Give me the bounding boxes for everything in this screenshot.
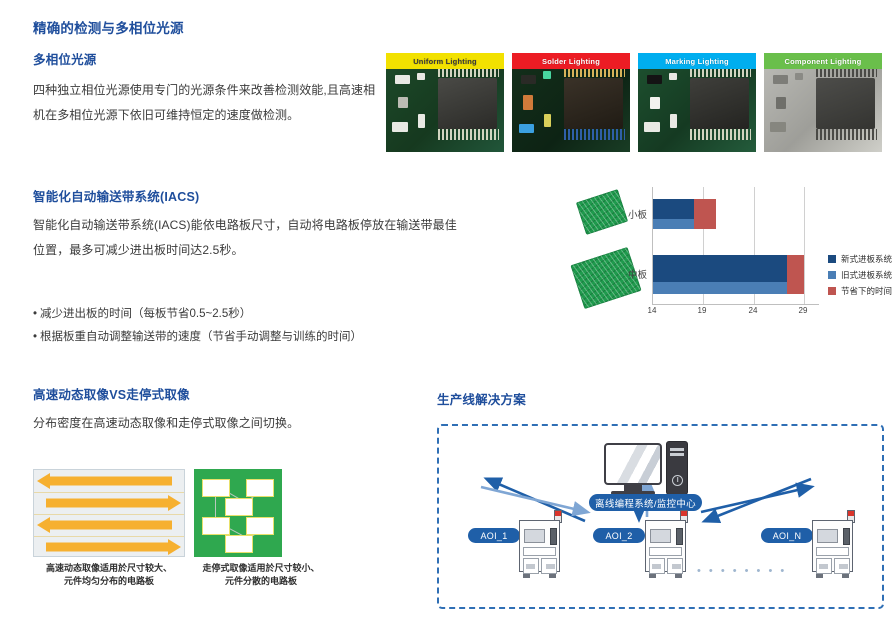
scan-arrow-right <box>46 543 168 552</box>
legend-label: 新式进板系统 <box>841 253 892 265</box>
gridline <box>804 187 805 304</box>
lighting-caption: Uniform Lighting <box>386 53 504 69</box>
section-heading-iacs: 智能化自动输送带系统(IACS) <box>33 186 199 205</box>
node-label-aoi-2: AOI_2 <box>593 528 645 543</box>
ellipsis-separator: • • • • • • • • <box>697 565 787 577</box>
chart-x-axis: 14 19 24 29 <box>652 306 818 318</box>
section-heading-line: 生产线解决方案 <box>437 389 526 408</box>
bar-time-saved <box>787 255 804 294</box>
scan-arrow-left <box>50 477 172 486</box>
fov-pad <box>225 498 253 516</box>
bullet-text: 减少进出板的时间（每板节省0.5~2.5秒） <box>40 308 251 320</box>
continuous-scan-graphic <box>33 469 185 557</box>
legend-label: 节省下的时间 <box>841 285 892 297</box>
bullet-text: 根据板重自动调整输送带的速度（节省手动调整与训练的时间） <box>40 331 362 343</box>
x-tick-label: 14 <box>648 306 657 315</box>
x-tick-label: 24 <box>749 306 758 315</box>
chart-category-label: 小板 <box>605 207 647 221</box>
bullet-dot: • <box>33 308 37 320</box>
caption-step-repeat: 走停式取像适用於尺寸较小、 元件分散的电路板 <box>186 562 336 588</box>
fov-pad <box>202 517 230 535</box>
bar-new-system <box>653 255 787 282</box>
arrow-head-right-icon <box>168 495 181 511</box>
connector-arrow <box>705 479 811 521</box>
page-title: 精确的检测与多相位光源 <box>33 17 184 37</box>
section-body-imaging: 分布密度在高速动态取像和走停式取像之间切换。 <box>33 411 299 436</box>
aoi-machine-2 <box>645 516 692 574</box>
node-label-aoi-n: AOI_N <box>761 528 813 543</box>
lighting-caption: Component Lighting <box>764 53 882 69</box>
legend-swatch <box>828 255 836 263</box>
aoi-machine-1 <box>519 516 566 574</box>
poster-page: 精确的检测与多相位光源 多相位光源 四种独立相位光源使用专门的光源条件来改善检测… <box>0 0 894 618</box>
chart-category-label: 中板 <box>605 267 647 281</box>
scan-arrow-left <box>50 521 172 530</box>
legend-swatch <box>828 287 836 295</box>
lighting-image-solder: Solder Lighting <box>512 53 630 152</box>
iacs-bullet-list: •减少进出板的时间（每板节省0.5~2.5秒） •根据板重自动调整输送带的速度（… <box>33 303 362 349</box>
caption-line: 元件分散的电路板 <box>186 575 336 588</box>
lighting-image-uniform: Uniform Lighting <box>386 53 504 152</box>
pc-tower-icon <box>666 441 688 495</box>
chart-plot-area: 小板 中板 <box>652 187 819 305</box>
section-body-iacs-line2: 位置，最多可减少进出板时间达2.5秒。 <box>33 238 244 263</box>
fov-pad <box>225 535 253 553</box>
section-body-lighting: 四种独立相位光源使用专门的光源条件来改善检测效能,且高速相机在多相位光源下依旧可… <box>33 78 378 128</box>
bullet-dot: • <box>33 331 37 343</box>
section-heading-lighting: 多相位光源 <box>33 49 97 68</box>
power-button-icon <box>672 475 683 486</box>
monitor-icon <box>604 443 662 485</box>
connector-arrow <box>481 487 587 512</box>
scan-arrow-right <box>46 499 168 508</box>
caption-line: 高速动态取像适用於尺寸较大、 <box>33 562 185 575</box>
fov-pad <box>202 479 230 497</box>
hub-label: 离线编程系统/监控中心 <box>589 494 702 511</box>
caption-line: 走停式取像适用於尺寸较小、 <box>186 562 336 575</box>
step-and-repeat-graphic <box>194 469 282 557</box>
bar-time-saved <box>694 199 716 229</box>
caption-continuous-scan: 高速动态取像适用於尺寸较大、 元件均匀分布的电路板 <box>33 562 185 588</box>
arrow-head-right-icon <box>168 539 181 555</box>
chart-legend: 新式进板系统 旧式进板系统 节省下的时间 <box>828 251 892 299</box>
arrow-head-left-icon <box>37 517 50 533</box>
list-item: •减少进出板的时间（每板节省0.5~2.5秒） <box>33 303 362 326</box>
node-label-aoi-1: AOI_1 <box>468 528 520 543</box>
legend-label: 旧式进板系统 <box>841 269 892 281</box>
lighting-image-marking: Marking Lighting <box>638 53 756 152</box>
legend-item-time-saved: 节省下的时间 <box>828 283 892 299</box>
arrow-head-left-icon <box>37 473 50 489</box>
lighting-image-component: Component Lighting <box>764 53 882 152</box>
legend-item-new-system: 新式进板系统 <box>828 251 892 267</box>
section-heading-imaging: 高速动态取像VS走停式取像 <box>33 384 190 403</box>
lighting-caption: Marking Lighting <box>638 53 756 69</box>
bar-old-system <box>653 282 787 294</box>
legend-swatch <box>828 271 836 279</box>
fov-pad <box>246 517 274 535</box>
x-tick-label: 29 <box>799 306 808 315</box>
bar-group-small: 小板 <box>653 199 716 229</box>
lighting-image-strip: Uniform Lighting Solder Lighting <box>386 53 882 152</box>
bar-old-system <box>653 219 694 229</box>
caption-line: 元件均匀分布的电路板 <box>33 575 185 588</box>
iacs-bar-chart: 小板 中板 14 19 24 29 新式进板系统 <box>576 183 894 328</box>
bar-group-medium: 中板 <box>653 255 804 294</box>
list-item: •根据板重自动调整输送带的速度（节省手动调整与训练的时间） <box>33 326 362 349</box>
bar-new-system <box>653 199 694 219</box>
fov-pad <box>246 479 274 497</box>
section-body-iacs-line1: 智能化自动输送带系统(IACS)能依电路板尺寸，自动将电路板停放在输送带最佳 <box>33 213 457 238</box>
legend-item-old-system: 旧式进板系统 <box>828 267 892 283</box>
aoi-machine-n <box>812 516 859 574</box>
x-tick-label: 19 <box>698 306 707 315</box>
lighting-caption: Solder Lighting <box>512 53 630 69</box>
